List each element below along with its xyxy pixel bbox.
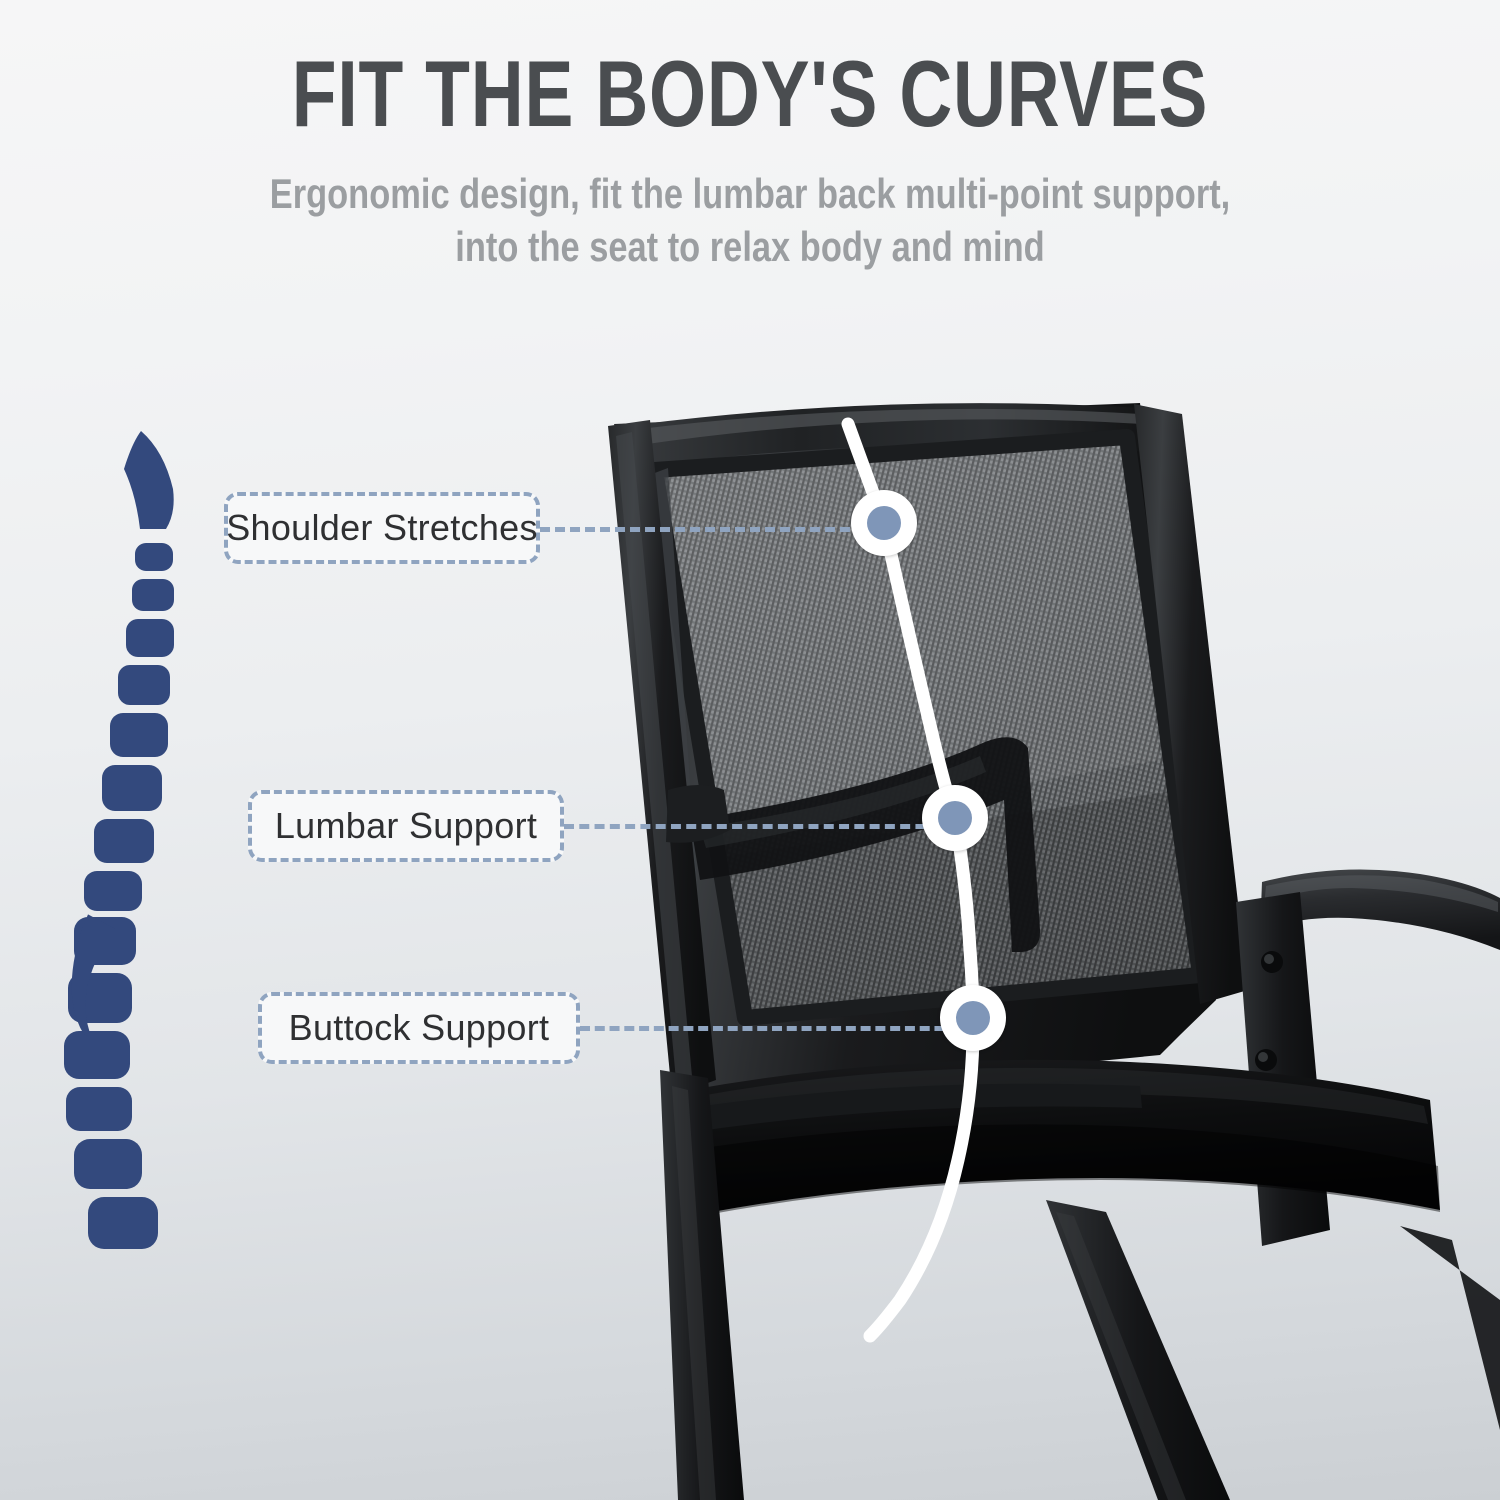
curve-point-marker-lumbar — [922, 785, 988, 851]
callout-label: Buttock Support — [289, 1007, 550, 1049]
callout-lumbar-support: Lumbar Support — [248, 790, 564, 862]
marker-core-icon — [956, 1001, 990, 1035]
curve-point-marker-shoulder — [851, 490, 917, 556]
curve-point-marker-buttock — [940, 985, 1006, 1051]
leader-line-lumbar — [564, 824, 956, 829]
callout-label: Lumbar Support — [275, 805, 537, 847]
page-subtitle: Ergonomic design, fit the lumbar back mu… — [135, 142, 1365, 274]
spine-icon — [40, 425, 240, 1255]
marker-core-icon — [938, 801, 972, 835]
callout-label: Shoulder Stretches — [226, 507, 538, 549]
leader-line-shoulder — [540, 527, 880, 532]
callout-buttock-support: Buttock Support — [258, 992, 580, 1064]
product-infographic: Shoulder Stretches Lumbar Support Buttoc… — [0, 0, 1500, 1500]
leader-line-buttock — [580, 1026, 974, 1031]
callout-shoulder-stretches: Shoulder Stretches — [224, 492, 540, 564]
marker-core-icon — [867, 506, 901, 540]
page-title: FIT THE BODY'S CURVES — [165, 0, 1335, 142]
header: FIT THE BODY'S CURVES Ergonomic design, … — [0, 0, 1500, 274]
